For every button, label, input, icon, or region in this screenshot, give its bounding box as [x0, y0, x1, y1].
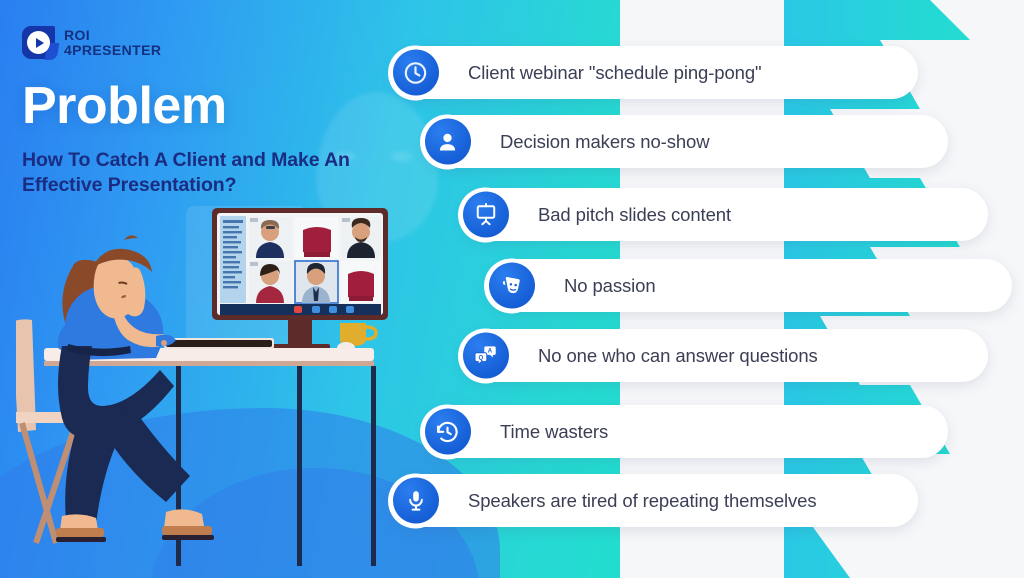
camera-icon [312, 306, 320, 313]
screen-share-icon [329, 306, 337, 313]
problem-item-5[interactable]: No one who can answer questions A Q [462, 329, 988, 382]
participants-icon [346, 306, 354, 313]
end-call-icon [294, 306, 302, 313]
empty-chair-2 [341, 261, 381, 303]
svg-text:A: A [488, 348, 493, 354]
problem-label-1: Client webinar "schedule ping-pong" [468, 62, 762, 84]
problem-label-3: Bad pitch slides content [538, 204, 731, 226]
problem-label-4: No passion [564, 275, 656, 297]
brand-line-1: ROI [64, 28, 161, 42]
user-icon [420, 114, 475, 169]
page-title: Problem [22, 76, 227, 136]
theater-mask-icon [484, 258, 539, 313]
microphone-icon [388, 473, 443, 528]
clock-icon [388, 45, 443, 100]
problem-label-5: No one who can answer questions [538, 345, 818, 367]
problem-item-6[interactable]: Time wasters [424, 405, 948, 458]
page-subtitle: How To Catch A Client and Make An Effect… [22, 148, 412, 198]
participant-2 [341, 217, 381, 258]
keyboard [164, 338, 274, 349]
slide-root: ROI 4PRESENTER Problem How To Catch A Cl… [0, 0, 1024, 578]
illustration-woman-at-desk [16, 196, 416, 578]
play-button-icon [22, 26, 55, 59]
brand-wordmark: ROI 4PRESENTER [64, 28, 161, 57]
problem-label-2: Decision makers no-show [500, 131, 710, 153]
presentation-board-icon [458, 187, 513, 242]
participant-1 [249, 217, 292, 258]
qa-chat-bubbles-icon: A Q [458, 328, 513, 383]
problem-item-1[interactable]: Client webinar "schedule ping-pong" [392, 46, 918, 99]
participant-3 [249, 261, 292, 303]
problem-item-7[interactable]: Speakers are tired of repeating themselv… [392, 474, 918, 527]
participant-4 [295, 261, 338, 303]
empty-chair-1 [295, 217, 338, 258]
problem-item-3[interactable]: Bad pitch slides content [462, 188, 988, 241]
problem-label-6: Time wasters [500, 421, 608, 443]
brand-logo[interactable]: ROI 4PRESENTER [22, 26, 161, 59]
problem-item-4[interactable]: No passion [488, 259, 1012, 312]
clock-rewind-icon [420, 404, 475, 459]
problem-item-2[interactable]: Decision makers no-show [424, 115, 948, 168]
svg-text:Q: Q [479, 355, 484, 361]
problem-label-7: Speakers are tired of repeating themselv… [468, 490, 817, 512]
brand-line-2: 4PRESENTER [64, 43, 161, 57]
